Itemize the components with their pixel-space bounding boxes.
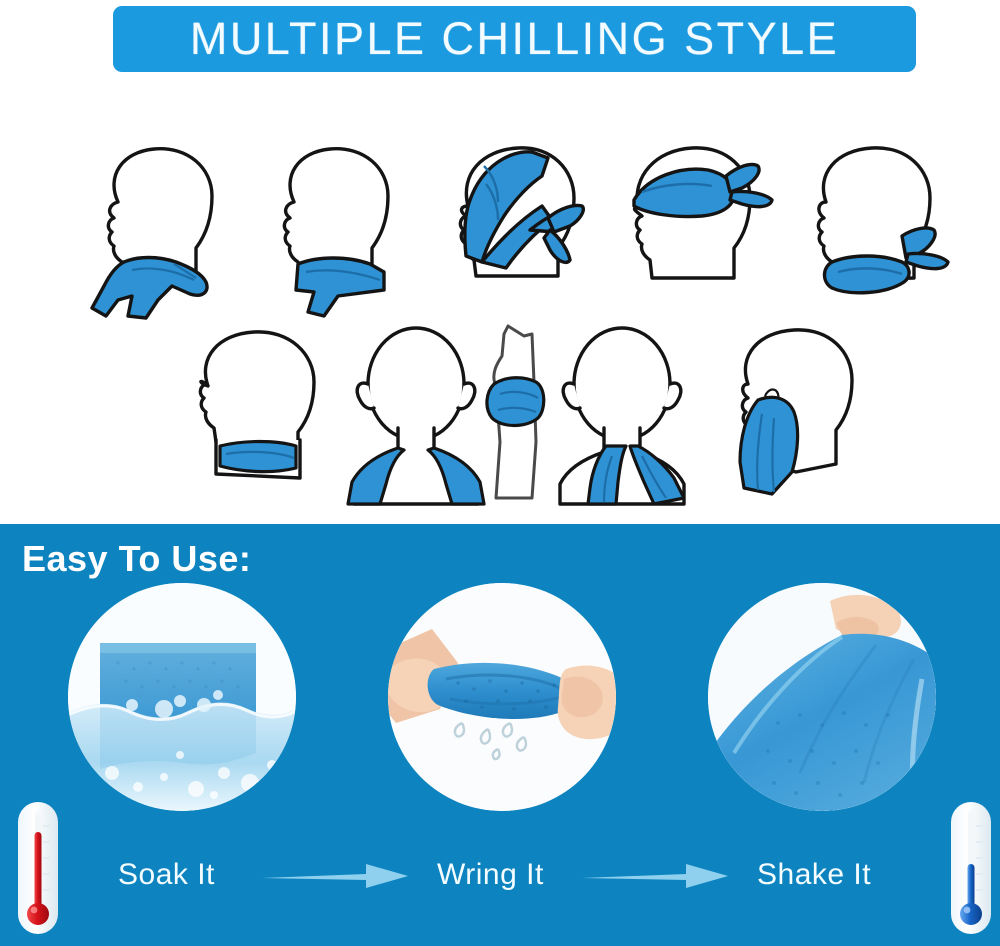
figure-neck-scarf-profile: [62, 140, 252, 325]
figure-headband-forehead: [604, 136, 794, 326]
step-image-soak: [68, 583, 296, 811]
figure-shoulder-drape-side: [542, 322, 702, 512]
infographic-page: MULTIPLE CHILLING STYLE: [0, 0, 1000, 946]
figure-neck-wrap-profile: [238, 140, 428, 325]
step-label-soak: Soak It: [118, 858, 215, 892]
figure-head-bandana-diagonal: [424, 136, 614, 326]
step-label-shake: Shake It: [757, 858, 871, 892]
step-label-wring: Wring It: [437, 858, 544, 892]
styles-illustration-area: [0, 100, 1000, 500]
arrow-right-icon-1: [258, 862, 418, 890]
step-image-wring: [388, 583, 616, 811]
step-image-shake: [708, 583, 936, 811]
figure-neck-tie-back: [786, 140, 976, 330]
figure-face-wipe: [700, 322, 890, 512]
thermometer-cold-icon: [945, 798, 997, 938]
easy-to-use-heading: Easy To Use:: [22, 538, 251, 580]
thermometer-hot-icon: [12, 798, 64, 938]
title-banner: MULTIPLE CHILLING STYLE: [113, 6, 916, 72]
figure-neck-gaiter: [168, 322, 358, 512]
page-title: MULTIPLE CHILLING STYLE: [190, 13, 839, 65]
figure-shoulder-drape-front: [336, 322, 496, 512]
arrow-right-icon-2: [578, 862, 738, 890]
